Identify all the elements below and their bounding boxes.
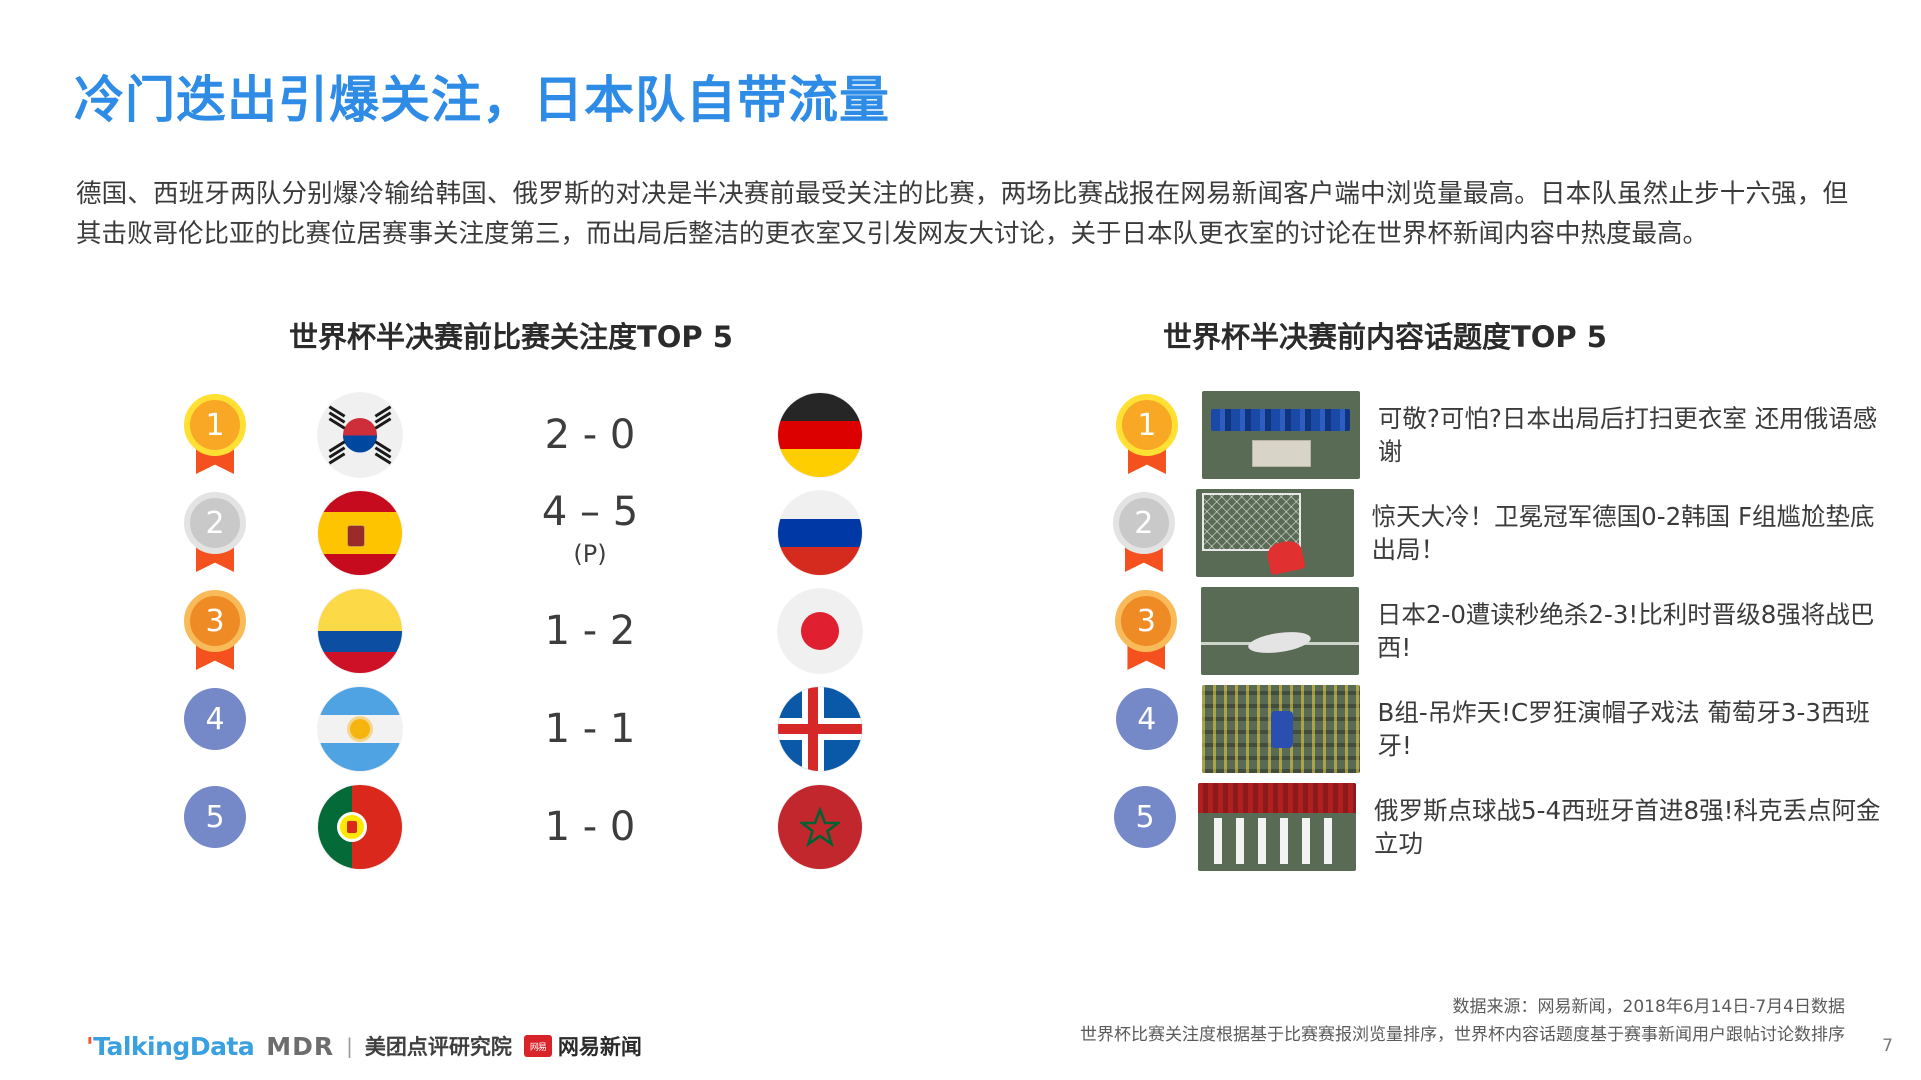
flag-colombia-icon [318,589,402,673]
score-value: 4 – 5 [542,489,638,535]
flag-spain-icon [318,491,402,575]
brand-logo-bar: 'TalkingData MDR | 美团点评研究院 网易 网易新闻 [86,1031,642,1061]
netease-news-label: 网易新闻 [558,1031,642,1061]
list-item[interactable]: 2 惊天大冷！卫冕冠军德国0-2韩国 F组尴尬垫底出局！ [1108,484,1888,582]
page-title: 冷门迭出引爆关注，日本队自带流量 [74,60,890,132]
rank-number: 4 [1116,688,1178,750]
rank-number: 5 [184,786,246,848]
rank-cell: 3 [1108,590,1185,672]
team-b-cell [740,393,900,477]
rank-badge-4: 4 [184,688,246,770]
table-row[interactable]: 3 1 - 2 [150,582,910,680]
news-headline[interactable]: 日本2-0遭读秒绝杀2-3!比利时晋级8强将战巴西! [1377,598,1888,664]
team-a-cell [280,687,440,771]
brand-divider: | [346,1034,353,1058]
team-b-cell [740,589,900,673]
team-a-cell [280,589,440,673]
rank-number: 3 [1115,590,1177,652]
team-a-cell [280,785,440,869]
rank-number: 2 [1113,492,1175,554]
rank-cell: 4 [150,688,280,770]
score-cell: 1 - 2 [440,609,740,653]
score-cell: 4 – 5 (P) [440,490,740,576]
source-note: 数据来源：网易新闻，2018年6月14日-7月4日数据 世界杯比赛关注度根据基于… [1080,993,1845,1049]
news-thumbnail-goal [1196,489,1354,577]
rank-badge-4: 4 [1116,688,1178,770]
rank-badge-5: 5 [1114,786,1176,868]
news-thumbnail-celebrate [1198,783,1356,871]
mdr-logo: MDR [266,1032,334,1061]
score-value: 1 - 0 [545,804,636,850]
rank-badge-5: 5 [184,786,246,868]
medal-badge-gold: 1 [184,394,246,476]
news-headline[interactable]: B组-吊炸天!C罗狂演帽子戏法 葡萄牙3-3西班牙! [1378,696,1888,762]
news-thumbnail-crowd [1202,685,1360,773]
team-b-cell [740,491,900,575]
rank-number: 1 [1116,394,1178,456]
flag-morocco-icon [778,785,862,869]
rank-cell: 4 [1108,688,1186,770]
rank-cell: 2 [1108,492,1180,574]
source-line-2: 世界杯比赛关注度根据基于比赛赛报浏览量排序，世界杯内容话题度基于赛事新闻用户跟帖… [1080,1021,1845,1049]
score-value: 1 - 1 [545,706,636,752]
rank-cell: 3 [150,590,280,672]
list-item[interactable]: 1 可敬?可怕?日本出局后打扫更衣室 还用俄语感谢 [1108,386,1888,484]
news-topic-list: 1 可敬?可怕?日本出局后打扫更衣室 还用俄语感谢 2 惊天大冷！卫冕冠军德国0… [1108,386,1888,876]
talkingdata-logo: 'TalkingData [86,1032,254,1061]
flag-japan-icon [778,589,862,673]
table-row[interactable]: 4 1 - 1 [150,680,910,778]
flag-portugal-icon [318,785,402,869]
news-thumbnail-lockerroom [1202,391,1360,479]
match-attention-list: 1 2 - 0 [150,386,910,876]
news-headline[interactable]: 俄罗斯点球战5-4西班牙首进8强!科克丢点阿金立功 [1374,794,1888,860]
news-headline[interactable]: 惊天大冷！卫冕冠军德国0-2韩国 F组尴尬垫底出局！ [1372,500,1888,566]
netease-logo: 网易 网易新闻 [524,1031,642,1061]
news-headline[interactable]: 可敬?可怕?日本出局后打扫更衣室 还用俄语感谢 [1378,402,1888,468]
netease-mark-icon: 网易 [524,1035,552,1057]
slide-root: 冷门迭出引爆关注，日本队自带流量 德国、西班牙两队分别爆冷输给韩国、俄罗斯的对决… [0,0,1921,1080]
score-cell: 1 - 0 [440,805,740,849]
rank-cell: 5 [150,786,280,868]
score-cell: 1 - 1 [440,707,740,751]
source-line-1: 数据来源：网易新闻，2018年6月14日-7月4日数据 [1080,993,1845,1021]
medal-badge-bronze: 3 [184,590,246,672]
table-row[interactable]: 2 4 – 5 (P) [150,484,910,582]
rank-number: 4 [184,688,246,750]
score-value: 1 - 2 [545,608,636,654]
team-a-cell [280,393,440,477]
rank-cell: 2 [150,492,280,574]
flag-germany-icon [778,393,862,477]
table-row[interactable]: 5 1 - 0 [150,778,910,876]
rank-number: 5 [1114,786,1176,848]
right-panel-heading: 世界杯半决赛前内容话题度TOP 5 [1163,314,1607,356]
flag-argentina-icon [318,687,402,771]
rank-cell: 1 [150,394,280,476]
team-b-cell [740,785,900,869]
flag-iceland-icon [778,687,862,771]
rank-number: 2 [184,492,246,554]
rank-number: 1 [184,394,246,456]
rank-cell: 5 [1108,786,1182,868]
meituan-research-label: 美团点评研究院 [365,1031,512,1061]
news-thumbnail-pitch [1201,587,1359,675]
list-item[interactable]: 5 俄罗斯点球战5-4西班牙首进8强!科克丢点阿金立功 [1108,778,1888,876]
team-a-cell [280,491,440,575]
lede-paragraph: 德国、西班牙两队分别爆冷输给韩国、俄罗斯的对决是半决赛前最受关注的比赛，两场比赛… [76,174,1848,254]
flag-korea-icon [318,393,402,477]
page-number: 7 [1882,1036,1893,1056]
rank-number: 3 [184,590,246,652]
medal-badge-silver: 2 [184,492,246,574]
rank-cell: 1 [1108,394,1186,476]
talkingdata-logo-text: TalkingData [93,1032,254,1061]
left-panel-heading: 世界杯半决赛前比赛关注度TOP 5 [289,314,733,356]
score-cell: 2 - 0 [440,413,740,457]
medal-badge-gold: 1 [1116,394,1178,476]
medal-badge-silver: 2 [1113,492,1175,574]
score-value: 2 - 0 [545,412,636,458]
table-row[interactable]: 1 2 - 0 [150,386,910,484]
medal-badge-bronze: 3 [1115,590,1177,672]
team-b-cell [740,687,900,771]
list-item[interactable]: 3 日本2-0遭读秒绝杀2-3!比利时晋级8强将战巴西! [1108,582,1888,680]
penalty-note: (P) [440,532,740,576]
flag-russia-icon [778,491,862,575]
list-item[interactable]: 4 B组-吊炸天!C罗狂演帽子戏法 葡萄牙3-3西班牙! [1108,680,1888,778]
